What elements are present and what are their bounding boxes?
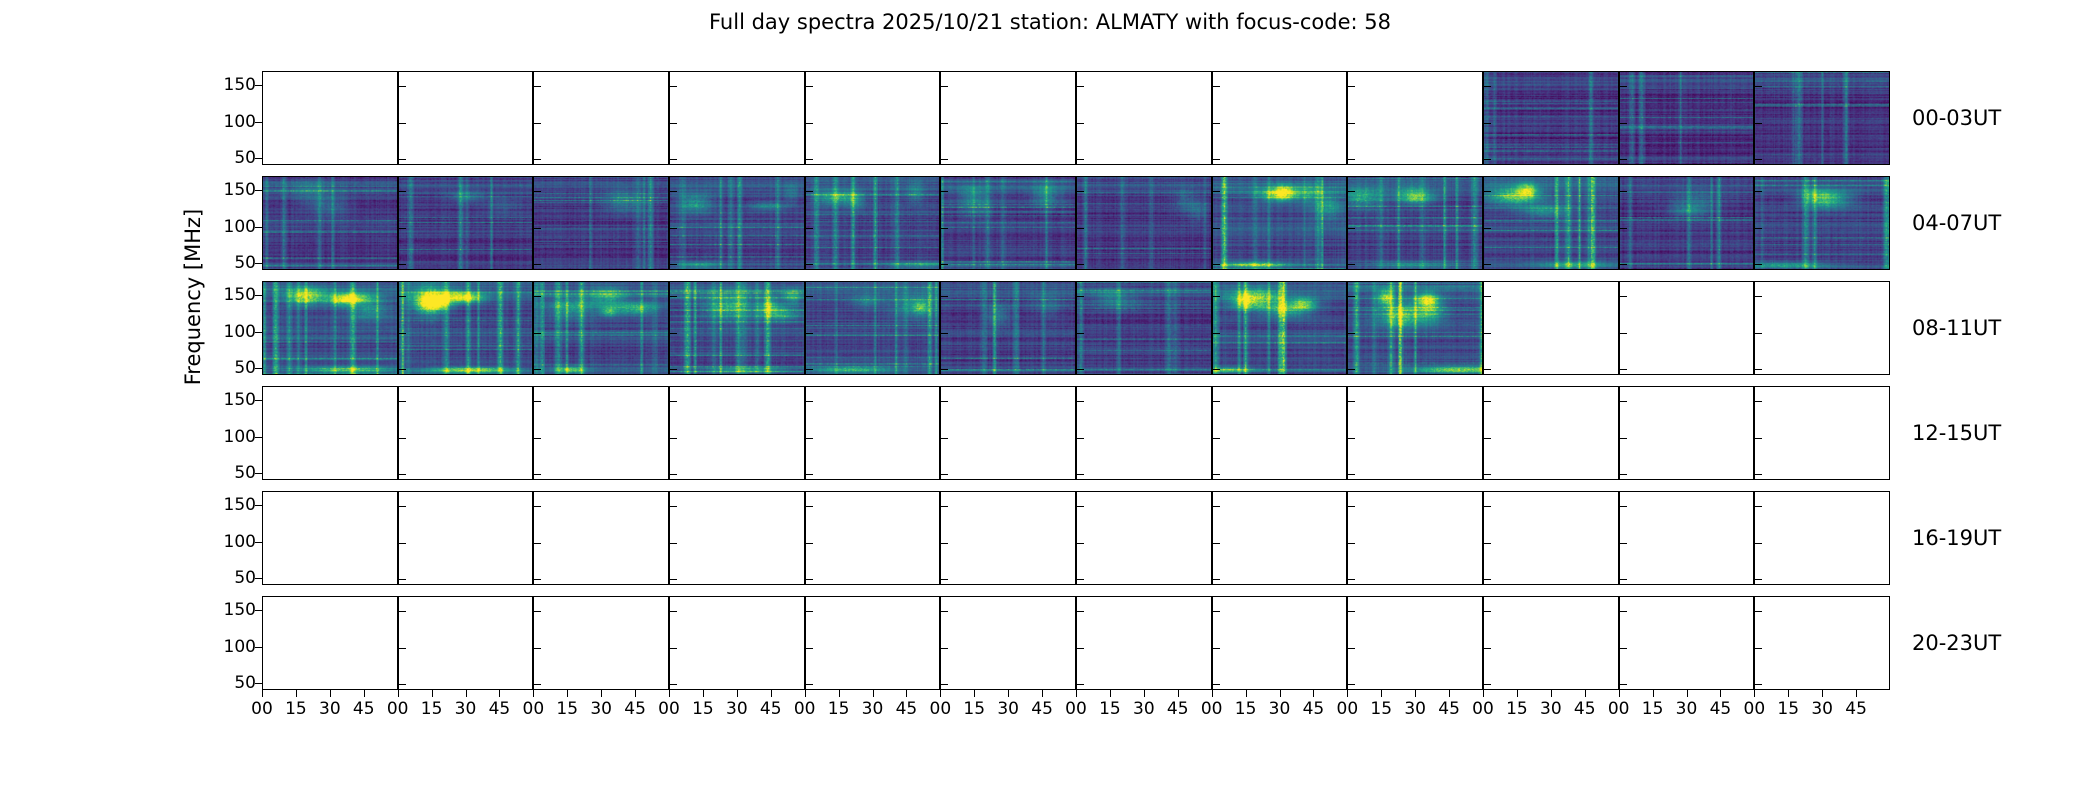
spectrogram-image bbox=[1755, 72, 1889, 164]
row-label-00-03: 00-03UT bbox=[1912, 106, 2001, 130]
y-tick-mark bbox=[1348, 474, 1355, 475]
y-tick-mark bbox=[255, 542, 262, 543]
y-tick-mark bbox=[1213, 438, 1220, 439]
spectrogram-panel[interactable] bbox=[805, 71, 941, 165]
spectrogram-panel[interactable] bbox=[1483, 386, 1619, 480]
y-tick-mark bbox=[1484, 438, 1491, 439]
x-tick-label: 30 bbox=[319, 699, 341, 719]
y-tick-label: 150 bbox=[224, 180, 256, 200]
spectrogram-panel[interactable] bbox=[1754, 176, 1890, 270]
y-tick-mark bbox=[1213, 296, 1220, 297]
x-tick-label: 30 bbox=[590, 699, 612, 719]
y-tick-mark bbox=[806, 474, 813, 475]
y-tick-mark bbox=[1348, 333, 1355, 334]
y-tick-mark bbox=[399, 369, 406, 370]
y-tick-mark bbox=[670, 438, 677, 439]
y-tick-mark bbox=[670, 648, 677, 649]
spectrogram-panel[interactable] bbox=[398, 71, 534, 165]
spectrogram-panel[interactable] bbox=[1347, 281, 1483, 375]
spectrogram-panel[interactable] bbox=[1619, 281, 1755, 375]
y-tick-mark bbox=[255, 190, 262, 191]
x-tick-mark bbox=[1347, 690, 1348, 697]
x-tick-label: 45 bbox=[896, 699, 918, 719]
y-tick-mark bbox=[1620, 611, 1627, 612]
y-tick-mark bbox=[941, 159, 948, 160]
y-tick-mark bbox=[1077, 438, 1084, 439]
y-tick-mark bbox=[1077, 401, 1084, 402]
row-label-20-23: 20-23UT bbox=[1912, 631, 2001, 655]
spectrogram-panel[interactable] bbox=[1076, 71, 1212, 165]
x-tick-mark bbox=[1246, 690, 1247, 697]
spectrogram-image bbox=[1213, 282, 1347, 374]
y-tick-mark bbox=[534, 438, 541, 439]
y-tick-mark bbox=[806, 506, 813, 507]
y-tick-mark bbox=[1213, 369, 1220, 370]
y-tick-mark bbox=[1213, 333, 1220, 334]
spectrogram-image bbox=[399, 177, 533, 269]
y-tick-mark bbox=[255, 158, 262, 159]
x-tick-label: 45 bbox=[1167, 699, 1189, 719]
y-tick-mark bbox=[806, 86, 813, 87]
y-tick-mark bbox=[399, 579, 406, 580]
spectrogram-panel[interactable] bbox=[940, 596, 1076, 690]
y-tick-mark bbox=[1077, 543, 1084, 544]
y-tick-mark bbox=[399, 438, 406, 439]
spectrogram-panel[interactable] bbox=[1212, 176, 1348, 270]
y-tick-mark bbox=[670, 474, 677, 475]
x-tick-mark bbox=[1551, 690, 1552, 697]
y-tick-mark bbox=[399, 333, 406, 334]
x-tick-mark bbox=[703, 690, 704, 697]
y-tick-mark bbox=[534, 543, 541, 544]
x-tick-mark bbox=[1483, 690, 1484, 697]
y-tick-mark bbox=[1620, 401, 1627, 402]
spectrogram-image bbox=[1755, 177, 1889, 269]
x-tick-mark bbox=[330, 690, 331, 697]
spectrogram-panel[interactable] bbox=[669, 386, 805, 480]
x-tick-label: 45 bbox=[1710, 699, 1732, 719]
x-tick-label: 00 bbox=[1337, 699, 1359, 719]
spectrogram-panel[interactable] bbox=[1347, 386, 1483, 480]
y-tick-mark bbox=[806, 579, 813, 580]
y-tick-mark bbox=[1755, 611, 1762, 612]
spectrogram-panel[interactable] bbox=[398, 386, 534, 480]
y-tick-mark bbox=[670, 684, 677, 685]
x-tick-label: 30 bbox=[455, 699, 477, 719]
spectrogram-panel[interactable] bbox=[1212, 71, 1348, 165]
y-tick-mark bbox=[1213, 264, 1220, 265]
x-tick-label: 30 bbox=[726, 699, 748, 719]
y-tick-mark bbox=[1620, 86, 1627, 87]
y-tick-mark bbox=[1213, 611, 1220, 612]
row-label-04-07: 04-07UT bbox=[1912, 211, 2001, 235]
x-tick-mark bbox=[1822, 690, 1823, 697]
spectrogram-panel[interactable] bbox=[1212, 386, 1348, 480]
y-tick-mark bbox=[1484, 264, 1491, 265]
spectrogram-panel[interactable] bbox=[1483, 71, 1619, 165]
y-tick-label: 50 bbox=[234, 568, 256, 588]
spectrogram-panel[interactable] bbox=[262, 71, 398, 165]
y-tick-mark bbox=[670, 191, 677, 192]
x-tick-mark bbox=[1381, 690, 1382, 697]
spectrogram-panel[interactable] bbox=[533, 596, 669, 690]
y-tick-mark bbox=[806, 369, 813, 370]
x-tick-mark bbox=[940, 690, 941, 697]
spectrogram-panel[interactable] bbox=[1619, 491, 1755, 585]
y-tick-mark bbox=[941, 611, 948, 612]
y-tick-mark bbox=[1755, 506, 1762, 507]
x-tick-label: 00 bbox=[1065, 699, 1087, 719]
x-tick-mark bbox=[1585, 690, 1586, 697]
y-tick-mark bbox=[534, 506, 541, 507]
y-tick-mark bbox=[534, 86, 541, 87]
y-tick-mark bbox=[1755, 543, 1762, 544]
x-tick-mark bbox=[1178, 690, 1179, 697]
y-tick-mark bbox=[670, 86, 677, 87]
spectrogram-panel[interactable] bbox=[669, 281, 805, 375]
x-tick-mark bbox=[1042, 690, 1043, 697]
spectrogram-panel[interactable] bbox=[1483, 596, 1619, 690]
spectrogram-panel[interactable] bbox=[398, 281, 534, 375]
spectrogram-panel[interactable] bbox=[940, 176, 1076, 270]
spectrogram-panel[interactable] bbox=[1347, 71, 1483, 165]
spectrogram-image bbox=[1077, 177, 1211, 269]
x-tick-mark bbox=[1313, 690, 1314, 697]
y-tick-mark bbox=[1620, 684, 1627, 685]
y-tick-mark bbox=[1484, 123, 1491, 124]
spectrogram-panel[interactable] bbox=[1483, 281, 1619, 375]
y-tick-mark bbox=[255, 437, 262, 438]
y-tick-mark bbox=[1213, 401, 1220, 402]
y-tick-mark bbox=[1077, 648, 1084, 649]
x-tick-mark bbox=[432, 690, 433, 697]
y-tick-mark bbox=[1755, 159, 1762, 160]
y-tick-mark bbox=[806, 401, 813, 402]
x-tick-label: 45 bbox=[1438, 699, 1460, 719]
y-tick-mark bbox=[255, 368, 262, 369]
y-tick-mark bbox=[255, 683, 262, 684]
y-tick-mark bbox=[255, 122, 262, 123]
y-tick-mark bbox=[941, 123, 948, 124]
spectrogram-image bbox=[263, 177, 397, 269]
y-tick-mark bbox=[534, 191, 541, 192]
y-tick-mark bbox=[1348, 369, 1355, 370]
y-tick-mark bbox=[670, 123, 677, 124]
spectrogram-panel[interactable] bbox=[1076, 596, 1212, 690]
y-tick-mark bbox=[1348, 684, 1355, 685]
x-tick-mark bbox=[1144, 690, 1145, 697]
y-tick-mark bbox=[1620, 123, 1627, 124]
y-tick-mark bbox=[806, 264, 813, 265]
y-tick-mark bbox=[534, 474, 541, 475]
y-tick-mark bbox=[1755, 296, 1762, 297]
y-tick-mark bbox=[1348, 506, 1355, 507]
spectrogram-panel[interactable] bbox=[1212, 491, 1348, 585]
spectrogram-panel[interactable] bbox=[1754, 71, 1890, 165]
figure-title: Full day spectra 2025/10/21 station: ALM… bbox=[0, 10, 2100, 34]
spectrogram-panel[interactable] bbox=[1619, 386, 1755, 480]
x-tick-mark bbox=[669, 690, 670, 697]
x-tick-mark bbox=[1280, 690, 1281, 697]
y-tick-mark bbox=[255, 610, 262, 611]
panel-row-16-19: 50100150 bbox=[262, 491, 1890, 585]
spectrogram-panel[interactable] bbox=[533, 491, 669, 585]
y-tick-label: 150 bbox=[224, 390, 256, 410]
spectrogram-panel[interactable] bbox=[1347, 491, 1483, 585]
spectrogram-panel[interactable] bbox=[1212, 281, 1348, 375]
x-tick-mark bbox=[1076, 690, 1077, 697]
y-tick-mark bbox=[1755, 369, 1762, 370]
spectrogram-image bbox=[263, 282, 397, 374]
y-tick-mark bbox=[1620, 506, 1627, 507]
y-tick-mark bbox=[255, 647, 262, 648]
spectrogram-panel[interactable] bbox=[262, 176, 398, 270]
x-tick-mark bbox=[1856, 690, 1857, 697]
spectrogram-image bbox=[1620, 72, 1754, 164]
x-tick-mark bbox=[1720, 690, 1721, 697]
y-tick-mark bbox=[534, 648, 541, 649]
x-tick-label: 30 bbox=[1811, 699, 1833, 719]
x-tick-label: 45 bbox=[1031, 699, 1053, 719]
spectrogram-panel[interactable] bbox=[940, 71, 1076, 165]
y-tick-mark bbox=[941, 369, 948, 370]
spectrogram-panel[interactable] bbox=[1754, 491, 1890, 585]
spectrogram-image bbox=[941, 177, 1075, 269]
spectrogram-panel[interactable] bbox=[805, 281, 941, 375]
spectrogram-panel[interactable] bbox=[940, 281, 1076, 375]
spectrogram-panel[interactable] bbox=[1483, 491, 1619, 585]
spectrogram-panel[interactable] bbox=[1619, 596, 1755, 690]
y-tick-mark bbox=[1213, 159, 1220, 160]
y-tick-mark bbox=[941, 543, 948, 544]
y-tick-mark bbox=[399, 648, 406, 649]
x-tick-mark bbox=[1687, 690, 1688, 697]
y-tick-mark bbox=[1620, 191, 1627, 192]
y-tick-mark bbox=[1620, 333, 1627, 334]
x-tick-mark bbox=[398, 690, 399, 697]
spectrogram-panel[interactable] bbox=[1483, 176, 1619, 270]
y-tick-mark bbox=[399, 506, 406, 507]
spectrogram-image bbox=[1484, 177, 1618, 269]
y-tick-mark bbox=[941, 333, 948, 334]
y-tick-mark bbox=[941, 401, 948, 402]
y-tick-mark bbox=[399, 543, 406, 544]
spectrogram-panel[interactable] bbox=[1076, 491, 1212, 585]
x-tick-label: 00 bbox=[523, 699, 545, 719]
spectrogram-panel[interactable] bbox=[1619, 71, 1755, 165]
x-tick-label: 30 bbox=[1269, 699, 1291, 719]
y-tick-mark bbox=[1077, 264, 1084, 265]
x-tick-mark bbox=[533, 690, 534, 697]
x-tick-label: 15 bbox=[1370, 699, 1392, 719]
y-tick-mark bbox=[1755, 123, 1762, 124]
y-tick-mark bbox=[1213, 228, 1220, 229]
y-tick-mark bbox=[534, 264, 541, 265]
x-tick-mark bbox=[466, 690, 467, 697]
spectrogram-panel[interactable] bbox=[669, 491, 805, 585]
y-tick-label: 50 bbox=[234, 148, 256, 168]
y-tick-mark bbox=[534, 579, 541, 580]
spectrogram-panel[interactable] bbox=[805, 491, 941, 585]
y-tick-mark bbox=[1484, 543, 1491, 544]
spectrogram-panel[interactable] bbox=[262, 386, 398, 480]
x-tick-label: 00 bbox=[1472, 699, 1494, 719]
y-tick-mark bbox=[1755, 86, 1762, 87]
x-tick-label: 45 bbox=[489, 699, 511, 719]
y-tick-mark bbox=[1484, 506, 1491, 507]
y-tick-mark bbox=[941, 684, 948, 685]
spectrogram-image bbox=[806, 282, 940, 374]
spectrogram-image bbox=[1213, 177, 1347, 269]
spectrogram-panel[interactable] bbox=[1619, 176, 1755, 270]
y-tick-mark bbox=[255, 295, 262, 296]
spectrogram-panel[interactable] bbox=[805, 596, 941, 690]
x-tick-mark bbox=[1008, 690, 1009, 697]
spectrogram-panel[interactable] bbox=[262, 281, 398, 375]
y-tick-mark bbox=[534, 401, 541, 402]
spectrogram-panel[interactable] bbox=[940, 386, 1076, 480]
x-tick-mark bbox=[364, 690, 365, 697]
x-tick-mark bbox=[1788, 690, 1789, 697]
y-tick-mark bbox=[399, 296, 406, 297]
y-tick-mark bbox=[399, 264, 406, 265]
x-tick-label: 30 bbox=[997, 699, 1019, 719]
y-tick-mark bbox=[1620, 543, 1627, 544]
y-tick-mark bbox=[806, 228, 813, 229]
spectrogram-image bbox=[1348, 177, 1482, 269]
y-tick-mark bbox=[399, 684, 406, 685]
y-tick-mark bbox=[1077, 506, 1084, 507]
spectrogram-panel[interactable] bbox=[669, 71, 805, 165]
y-tick-mark bbox=[1755, 401, 1762, 402]
y-tick-mark bbox=[399, 228, 406, 229]
y-tick-label: 150 bbox=[224, 75, 256, 95]
spectrogram-panel[interactable] bbox=[398, 176, 534, 270]
y-tick-mark bbox=[1620, 579, 1627, 580]
spectrogram-figure: Full day spectra 2025/10/21 station: ALM… bbox=[0, 0, 2100, 800]
y-tick-mark bbox=[399, 191, 406, 192]
y-tick-mark bbox=[806, 333, 813, 334]
y-tick-mark bbox=[670, 611, 677, 612]
y-tick-label: 100 bbox=[224, 427, 256, 447]
y-tick-mark bbox=[1077, 611, 1084, 612]
y-tick-label: 100 bbox=[224, 637, 256, 657]
x-tick-label: 45 bbox=[1845, 699, 1867, 719]
y-tick-mark bbox=[1077, 369, 1084, 370]
spectrogram-panel[interactable] bbox=[1076, 386, 1212, 480]
y-tick-mark bbox=[1484, 401, 1491, 402]
y-tick-mark bbox=[670, 333, 677, 334]
spectrogram-panel[interactable] bbox=[805, 386, 941, 480]
y-tick-mark bbox=[1213, 86, 1220, 87]
spectrogram-panel[interactable] bbox=[1754, 281, 1890, 375]
y-tick-mark bbox=[1755, 333, 1762, 334]
spectrogram-panel[interactable] bbox=[669, 596, 805, 690]
spectrogram-panel[interactable] bbox=[1212, 596, 1348, 690]
y-tick-mark bbox=[670, 264, 677, 265]
spectrogram-panel[interactable] bbox=[1347, 596, 1483, 690]
y-tick-mark bbox=[1755, 264, 1762, 265]
y-tick-label: 150 bbox=[224, 285, 256, 305]
y-tick-mark bbox=[806, 296, 813, 297]
x-tick-mark bbox=[737, 690, 738, 697]
y-tick-mark bbox=[399, 123, 406, 124]
spectrogram-image bbox=[670, 282, 804, 374]
panel-row-20-23: 5010015000153045001530450015304500153045… bbox=[262, 596, 1890, 690]
x-tick-label: 15 bbox=[828, 699, 850, 719]
y-tick-mark bbox=[1348, 123, 1355, 124]
y-tick-mark bbox=[1484, 191, 1491, 192]
spectrogram-panel[interactable] bbox=[1076, 281, 1212, 375]
y-tick-mark bbox=[1077, 296, 1084, 297]
y-tick-mark bbox=[1213, 191, 1220, 192]
spectrogram-panel[interactable] bbox=[533, 386, 669, 480]
y-tick-mark bbox=[1484, 369, 1491, 370]
spectrogram-panel[interactable] bbox=[1347, 176, 1483, 270]
spectrogram-panel[interactable] bbox=[533, 281, 669, 375]
y-axis-label: Frequency [MHz] bbox=[181, 282, 205, 312]
y-tick-mark bbox=[1348, 228, 1355, 229]
y-tick-mark bbox=[1348, 296, 1355, 297]
y-tick-mark bbox=[670, 159, 677, 160]
spectrogram-panel[interactable] bbox=[533, 71, 669, 165]
x-tick-mark bbox=[974, 690, 975, 697]
y-tick-mark bbox=[941, 296, 948, 297]
y-tick-mark bbox=[1213, 579, 1220, 580]
spectrogram-panel[interactable] bbox=[398, 491, 534, 585]
spectrogram-panel[interactable] bbox=[533, 176, 669, 270]
y-tick-mark bbox=[1077, 159, 1084, 160]
y-tick-mark bbox=[399, 86, 406, 87]
y-tick-mark bbox=[1620, 296, 1627, 297]
y-tick-mark bbox=[1077, 333, 1084, 334]
x-tick-mark bbox=[1754, 690, 1755, 697]
spectrogram-panel[interactable] bbox=[1076, 176, 1212, 270]
y-tick-label: 150 bbox=[224, 495, 256, 515]
x-tick-label: 15 bbox=[963, 699, 985, 719]
x-tick-label: 30 bbox=[1676, 699, 1698, 719]
y-tick-mark bbox=[1484, 296, 1491, 297]
x-tick-label: 45 bbox=[1303, 699, 1325, 719]
spectrogram-panel[interactable] bbox=[262, 491, 398, 585]
x-tick-label: 00 bbox=[387, 699, 409, 719]
y-tick-mark bbox=[399, 401, 406, 402]
spectrogram-panel[interactable] bbox=[1754, 386, 1890, 480]
y-tick-mark bbox=[1620, 228, 1627, 229]
y-tick-mark bbox=[1484, 159, 1491, 160]
x-tick-label: 00 bbox=[930, 699, 952, 719]
x-tick-label: 30 bbox=[862, 699, 884, 719]
y-tick-mark bbox=[1348, 191, 1355, 192]
x-tick-label: 15 bbox=[692, 699, 714, 719]
y-axis-label-text: Frequency [MHz] bbox=[181, 177, 205, 417]
spectrogram-panel[interactable] bbox=[940, 491, 1076, 585]
spectrogram-panel[interactable] bbox=[805, 176, 941, 270]
x-tick-mark bbox=[499, 690, 500, 697]
panel-row-04-07: 50100150 bbox=[262, 176, 1890, 270]
spectrogram-panel[interactable] bbox=[262, 596, 398, 690]
spectrogram-panel[interactable] bbox=[669, 176, 805, 270]
spectrogram-panel[interactable] bbox=[1754, 596, 1890, 690]
y-tick-mark bbox=[806, 543, 813, 544]
y-tick-mark bbox=[534, 369, 541, 370]
y-tick-mark bbox=[1348, 579, 1355, 580]
x-tick-label: 30 bbox=[1133, 699, 1155, 719]
x-tick-mark bbox=[1517, 690, 1518, 697]
x-tick-label: 30 bbox=[1404, 699, 1426, 719]
y-tick-mark bbox=[806, 159, 813, 160]
spectrogram-panel[interactable] bbox=[398, 596, 534, 690]
